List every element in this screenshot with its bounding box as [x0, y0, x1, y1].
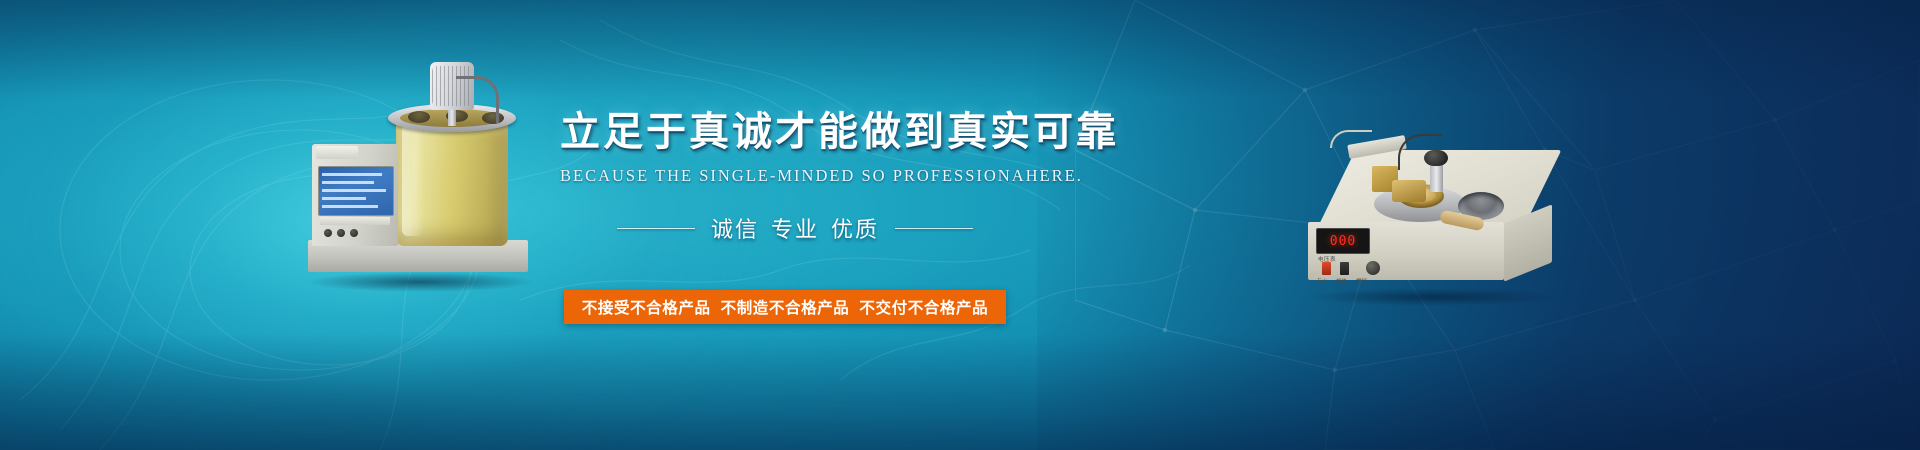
supply-tube — [1330, 130, 1372, 148]
tagline-word-2: 专业 — [771, 218, 819, 243]
control-label-row: 点火 加热 搅拌 — [1316, 277, 1426, 285]
display-value: 000 — [1330, 234, 1356, 249]
brass-fixture-right — [1392, 180, 1426, 202]
tagline-word-3: 优质 — [831, 218, 879, 243]
promo-banner: 000 电压表 点火 加热 搅拌 立足于真诚才能做到真实可靠 BECAUSE T… — [0, 0, 1920, 450]
digital-display: 000 — [1316, 228, 1370, 254]
device-shadow — [1308, 288, 1558, 306]
pledge-item-2: 不制造不合格产品 — [721, 299, 850, 317]
bath-port-1 — [408, 111, 430, 123]
pledge-item-1: 不接受不合格产品 — [582, 299, 711, 317]
flash-point-tester-device: 000 电压表 点火 加热 搅拌 — [1300, 128, 1566, 300]
tagline-rule-left — [617, 228, 695, 229]
capillary-tube — [456, 76, 499, 123]
rotary-knob[interactable] — [1366, 261, 1380, 275]
tagline-word-1: 诚信 — [711, 218, 759, 243]
cabinet-top-vent — [316, 146, 358, 159]
control-label-ignite: 点火 — [1316, 277, 1327, 285]
control-label-heat: 加热 — [1336, 277, 1347, 285]
tagline-rule-right — [895, 228, 973, 229]
oil-bath-highlight — [402, 124, 424, 236]
banner-tagline: 诚信专业优质 — [711, 212, 879, 244]
banner-subheadline: BECAUSE THE SINGLE-MINDED SO PROFESSIONA… — [560, 166, 1030, 186]
cabinet-knob-row — [324, 229, 388, 239]
cabinet-label-strip — [320, 217, 390, 225]
power-switch-red[interactable] — [1322, 262, 1331, 275]
banner-text-block: 立足于真诚才能做到真实可靠 BECAUSE THE SINGLE-MINDED … — [560, 112, 1030, 244]
cabinet-knob — [337, 229, 345, 237]
quality-pledge-text: 不接受不合格产品不制造不合格产品不交付不合格产品 — [582, 296, 988, 318]
power-switch-black[interactable] — [1340, 262, 1349, 275]
banner-tagline-row: 诚信专业优质 — [560, 212, 1030, 244]
viscometer-bath-device — [300, 58, 540, 288]
cabinet-knob — [324, 229, 332, 237]
pledge-item-3: 不交付不合格产品 — [859, 299, 988, 317]
quality-pledge-banner: 不接受不合格产品不制造不合格产品不交付不合格产品 — [564, 290, 1006, 324]
banner-headline: 立足于真诚才能做到真实可靠 — [560, 112, 1030, 152]
device-shadow — [306, 272, 534, 292]
cabinet-knob — [350, 229, 358, 237]
control-label-stir: 搅拌 — [1356, 277, 1367, 285]
control-screen — [318, 166, 394, 216]
